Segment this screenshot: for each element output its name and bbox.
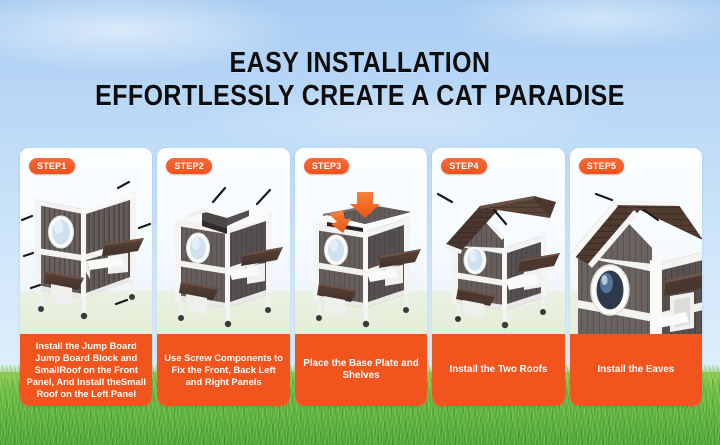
step-3-caption: Place the Base Plate and Shelves — [295, 334, 427, 406]
step-2-caption: Use Screw Components to Fix the Front, B… — [157, 334, 289, 406]
step-2-illustration: STEP2 — [157, 148, 289, 334]
step-4-caption-text: Install the Two Roofs — [450, 364, 548, 376]
step-card-4[interactable]: STEP4 Install the Two Roofs — [432, 148, 564, 406]
step-3-illustration: STEP3 — [295, 148, 427, 334]
step-4-caption: Install the Two Roofs — [432, 334, 564, 406]
step-card-2[interactable]: STEP2 Use Screw Components to Fix the Fr… — [157, 148, 289, 406]
step-1-illustration: STEP1 — [20, 148, 152, 334]
cat-house-eaves-closeup-graphic — [570, 148, 702, 334]
step-1-caption-text: Install the Jump Board Jump Board Block … — [26, 340, 146, 399]
step-2-badge: STEP2 — [166, 158, 212, 174]
title-line-2: EFFORTLESSLY CREATE A CAT PARADISE — [50, 81, 669, 112]
step-4-badge: STEP4 — [441, 158, 487, 174]
step-card-3[interactable]: STEP3 Place the Base Plate and Shelves — [295, 148, 427, 406]
cat-house-open-panels-graphic — [20, 148, 152, 334]
step-5-caption-text: Install the Eaves — [597, 364, 674, 376]
cat-house-assembled-box-graphic — [157, 148, 289, 334]
step-1-badge: STEP1 — [29, 158, 75, 174]
page-title: EASY INSTALLATION EFFORTLESSLY CREATE A … — [0, 48, 720, 112]
step-5-badge: STEP5 — [579, 158, 625, 174]
cat-house-base-plate-arrows-graphic — [295, 148, 427, 334]
step-3-badge: STEP3 — [304, 158, 350, 174]
step-card-1[interactable]: STEP1 Install the Jump Board Jump Board … — [20, 148, 152, 406]
step-card-5[interactable]: STEP5 Install the Eaves — [570, 148, 702, 406]
step-2-caption-text: Use Screw Components to Fix the Front, B… — [163, 352, 283, 388]
cat-house-with-roof-graphic — [432, 148, 564, 334]
step-3-caption-text: Place the Base Plate and Shelves — [301, 358, 421, 383]
step-5-illustration: STEP5 — [570, 148, 702, 334]
title-line-1: EASY INSTALLATION — [50, 48, 669, 79]
step-5-caption: Install the Eaves — [570, 334, 702, 406]
step-4-illustration: STEP4 — [432, 148, 564, 334]
step-cards-row: STEP1 Install the Jump Board Jump Board … — [20, 148, 702, 406]
step-1-caption: Install the Jump Board Jump Board Block … — [20, 334, 152, 406]
